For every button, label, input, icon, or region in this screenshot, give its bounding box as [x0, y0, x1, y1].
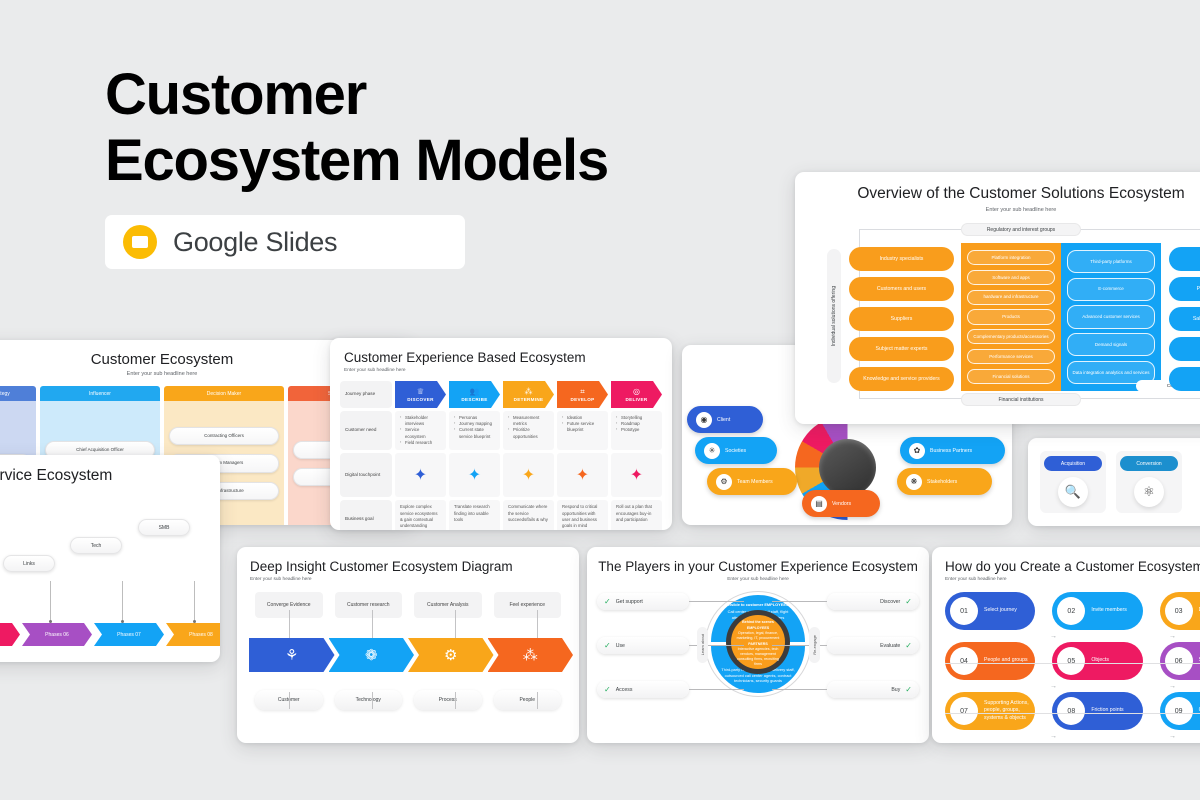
individual-solutions-label: Individual solutions offering	[827, 249, 841, 383]
player-right-discover[interactable]: Discover✓	[827, 593, 919, 610]
overview-right-pill[interactable]: Platform partners	[1169, 277, 1200, 301]
phase-chevron[interactable]: ⁂DETERMINE	[503, 381, 554, 408]
google-slides-badge[interactable]: Google Slides	[105, 215, 465, 269]
players-side-right: Re-engage	[809, 627, 820, 663]
step-number: 01	[950, 597, 978, 625]
player-connector-right	[772, 689, 827, 690]
node-stakeholders[interactable]: ❋Stakeholders	[897, 468, 992, 495]
card-overview-customer-solutions[interactable]: Overview of the Customer Solutions Ecosy…	[795, 172, 1200, 424]
deep-top-label[interactable]: Customer Analysis	[414, 592, 482, 618]
page-title: Customer Ecosystem Models	[105, 62, 725, 193]
column-header: Decision Maker	[164, 386, 284, 401]
step-08[interactable]: 08Friction points	[1052, 692, 1142, 730]
donut-segment-03: 03	[884, 453, 889, 458]
acq-tag-acquisition: Acquisition	[1044, 456, 1102, 471]
node-vendors[interactable]: ▤Vendors	[802, 490, 880, 517]
player-connector-left	[689, 689, 744, 690]
deep-connector-top	[289, 610, 290, 638]
pill-label: Get support	[616, 599, 643, 605]
card-subtitle: Enter your sub headline here	[587, 577, 929, 582]
card-title: Customer Service Ecosystem	[0, 467, 220, 485]
cx-row-business-goal: Business goalExplore complex service eco…	[340, 500, 662, 530]
need-item: Measurement metrics	[508, 415, 549, 427]
player-right-evaluate[interactable]: Evaluate✓	[827, 637, 919, 654]
node-label: Business Partners	[930, 448, 972, 454]
overview-orange-half: Platform integrationSoftware and appshar…	[961, 243, 1061, 391]
how-to-row: 04People and groups05Objects06Se	[945, 642, 1200, 680]
goal-cell: Respond to critical opportunities with u…	[557, 500, 608, 530]
pill-label: Access	[616, 687, 633, 693]
need-cell: Measurement metricsPrioritize opportunit…	[503, 411, 554, 450]
pill-label: Buy	[891, 687, 900, 693]
step-number: 02	[1057, 597, 1085, 625]
overview-orange-item[interactable]: Performance services	[967, 349, 1055, 364]
phase-connector	[122, 581, 123, 623]
team-icon: ⚙	[716, 474, 732, 490]
need-item: Prioritize opportunities	[508, 427, 549, 439]
financial-band: Financial institutions	[961, 393, 1081, 406]
overview-left-column: Industry specialistsCustomers and usersS…	[849, 247, 954, 391]
row-separator	[945, 663, 1200, 664]
pill-label: Use	[616, 643, 625, 649]
need-item: Stakeholder interviews	[400, 415, 441, 427]
phase-chevron[interactable]: ♕DISCOVER	[395, 381, 446, 408]
card-customer-service-ecosystem[interactable]: Customer Service Ecosystem Enter your su…	[0, 455, 220, 662]
player-connector-right	[772, 601, 827, 602]
donut-segment-01: 01	[854, 423, 859, 428]
step-arrow: →	[1169, 683, 1176, 690]
brain-icon[interactable]: ❁	[329, 638, 415, 672]
phase-dot	[49, 620, 52, 623]
overview-right-pill[interactable]: Sales and marketing	[1169, 307, 1200, 331]
need-list: PersonasJourney mappingCurrent state ser…	[454, 415, 495, 440]
cx-matrix: Journey phase♕DISCOVER👥DESCRIBE⁂DETERMIN…	[340, 381, 662, 530]
card-how-to-create-map[interactable]: How do you Create a Customer Ecosystem M…	[932, 547, 1200, 743]
goal-cell: Roll out a plan that encourages buy-in a…	[611, 500, 662, 530]
acq-tile[interactable]: Conversion⚛	[1116, 451, 1182, 513]
overview-blue-item[interactable]: Demand signals	[1067, 333, 1155, 356]
card-title: Deep Insight Customer Ecosystem Diagram	[250, 559, 579, 574]
acquisition-tiles: Acquisition🔍Conversion⚛	[1028, 438, 1200, 526]
need-cell: PersonasJourney mappingCurrent state ser…	[449, 411, 500, 450]
deep-connector-top	[537, 610, 538, 638]
paw-icon[interactable]: ⚘	[249, 638, 335, 672]
player-connector-left	[689, 601, 744, 602]
regulatory-band: Regulatory and interest groups	[961, 223, 1081, 236]
node-label: Stakeholders	[927, 479, 957, 485]
overview-orange-item[interactable]: Software and apps	[967, 270, 1055, 285]
node-team-members[interactable]: ⚙Team Members	[707, 468, 797, 495]
phase-label: DELIVER	[625, 397, 647, 402]
sparkle-icon: ✦	[557, 453, 608, 497]
network-icon[interactable]: ⁂	[488, 638, 574, 672]
deep-connector-top	[455, 610, 456, 638]
step-number: 07	[950, 697, 978, 725]
deep-bottom-label[interactable]: People	[494, 690, 562, 710]
sparkle-icon: ✦	[395, 453, 446, 497]
core-group2-body: Interactive agencies, tech vendors, mana…	[735, 647, 781, 667]
node-societies[interactable]: ✳Societies	[695, 437, 777, 464]
card-subtitle: Enter your sub headline here	[250, 577, 579, 582]
deep-top-labels: Converge EvidenceCustomer researchCustom…	[255, 592, 561, 618]
vertical-label-text: Individual solutions offering	[831, 286, 837, 346]
step-label: Select journey	[984, 607, 1017, 614]
phase-label: DEVELOP	[570, 397, 594, 402]
need-item: Service ecosystem	[400, 427, 441, 439]
deep-top-label[interactable]: Feel experience	[494, 592, 562, 618]
check-icon: ✓	[905, 641, 912, 650]
overview-left-pill[interactable]: Customers and users	[849, 277, 954, 301]
row-label: Customer need	[340, 411, 392, 450]
step-02[interactable]: 02Invite members	[1052, 592, 1142, 630]
blueprint-icon: ⌗	[580, 388, 585, 396]
card-deep-insight[interactable]: Deep Insight Customer Ecosystem Diagram …	[237, 547, 579, 743]
overview-blue-item[interactable]: Advanced customer services	[1067, 305, 1155, 328]
card-title: Overview of the Customer Solutions Ecosy…	[795, 185, 1200, 203]
row-label: Digital touchpoint	[340, 453, 392, 497]
need-cell: IdeationFuture service blueprint	[557, 411, 608, 450]
player-left-get-support[interactable]: ✓Get support	[597, 593, 689, 610]
overview-orange-item[interactable]: hardware and infrastructure	[967, 290, 1055, 305]
donut-segment-02: 02	[873, 434, 878, 439]
overview-right-pill[interactable]: Distributors	[1169, 337, 1200, 361]
how-to-row: 07Supporting Actions, people, groups, sy…	[945, 692, 1200, 730]
overview-orange-item[interactable]: Products	[967, 309, 1055, 324]
target-icon: ◎	[633, 388, 640, 396]
node-label: Team Members	[737, 479, 773, 485]
cx-row-journey-phase: Journey phase♕DISCOVER👥DESCRIBE⁂DETERMIN…	[340, 381, 662, 408]
conversion-icon: ⚛	[1134, 477, 1164, 507]
step-label: Supporting Actions, people, groups, syst…	[984, 700, 1035, 721]
crown-icon: ♕	[417, 388, 424, 396]
phase-label: DETERMINE	[514, 397, 544, 402]
step-number: 05	[1057, 647, 1085, 675]
deep-top-label[interactable]: Customer research	[335, 592, 403, 618]
sparkle-icon: ✦	[503, 453, 554, 497]
network-icon: ⁂	[525, 388, 533, 396]
sparkle-icon: ✦	[611, 453, 662, 497]
overview-left-pill[interactable]: Subject matter experts	[849, 337, 954, 361]
step-label: Invite members	[1091, 607, 1126, 614]
how-to-row: 01Select journey02Invite members03Do	[945, 592, 1200, 630]
check-icon: ✓	[604, 641, 611, 650]
acq-tag-conversion: Conversion	[1120, 456, 1178, 471]
step-09[interactable]: 09Cu	[1160, 692, 1200, 730]
overview-center: Platform integrationSoftware and appshar…	[961, 243, 1161, 391]
card-players[interactable]: The Players in your Customer Experience …	[587, 547, 929, 743]
overview-blue-item[interactable]: Third-party platforms	[1067, 250, 1155, 273]
stakeholder-icon: ❋	[906, 474, 922, 490]
check-icon: ✓	[905, 597, 912, 606]
need-list: Measurement metricsPrioritize opportunit…	[508, 415, 549, 440]
overview-left-pill[interactable]: Knowledge and service providers	[849, 367, 954, 391]
phase-dot	[121, 620, 124, 623]
goal-cell: Explore complex service ecosystems & gai…	[395, 500, 446, 530]
overview-right-pill[interactable]: Data providers	[1169, 367, 1200, 391]
deep-connector-bottom	[537, 692, 538, 709]
partners-icon: ✿	[909, 443, 925, 459]
deep-bottom-labels: CustomerTechnologyProcessPeople	[255, 690, 561, 710]
step-04[interactable]: 04People and groups	[945, 642, 1035, 680]
step-number: 09	[1165, 697, 1193, 725]
overview-orange-item[interactable]: Complementary products/accessories	[967, 329, 1055, 344]
card-subtitle: Enter your sub headline here	[795, 207, 1200, 213]
phase-phases-06[interactable]: Phases 06	[22, 623, 92, 646]
step-arrow: →	[1169, 733, 1176, 740]
column-header: Final Authority/ Cloud Strategy	[0, 386, 36, 401]
deep-bottom-label[interactable]: Technology	[335, 690, 403, 710]
need-item: Field research	[400, 440, 441, 446]
phase-label: DISCOVER	[407, 397, 433, 402]
phase-connector	[50, 581, 51, 623]
overview-right-pill[interactable]: IT partners	[1169, 247, 1200, 271]
step-arrow: →	[1050, 733, 1057, 740]
players-side-left: Learn about	[697, 627, 708, 663]
page-title-line2: Ecosystem Models	[105, 128, 608, 193]
callout-smb[interactable]: SMB	[138, 519, 190, 536]
pill-label: Discover	[880, 599, 900, 605]
phase-dot	[193, 620, 196, 623]
need-item: Current state service blueprint	[454, 427, 495, 439]
card-subtitle: Enter your sub headline here	[0, 488, 220, 494]
step-03[interactable]: 03Do	[1160, 592, 1200, 630]
side-left-label: Learn about	[700, 634, 705, 655]
overview-right-column: IT partnersPlatform partnersSales and ma…	[1169, 247, 1200, 391]
step-number: 04	[950, 647, 978, 675]
deep-chevrons: ⚘❁⚙⁂	[249, 638, 567, 672]
vendor-icon: ▤	[811, 496, 827, 512]
step-number: 03	[1165, 597, 1193, 625]
node-label: Client	[717, 417, 730, 423]
step-number: 06	[1165, 647, 1193, 675]
players-core: Behind the scenesEMPLOYEESOperation, leg…	[731, 615, 785, 669]
card-title: The Players in your Customer Experience …	[587, 559, 929, 574]
phase-label: DESCRIBE	[461, 397, 487, 402]
card-title: Customer Experience Based Ecosystem	[344, 350, 672, 365]
search-target-icon: 🔍	[1058, 477, 1088, 507]
need-list: IdeationFuture service blueprint	[562, 415, 603, 434]
google-slides-icon	[123, 225, 157, 259]
deep-connector-bottom	[372, 692, 373, 709]
phase-chevron[interactable]: ⌗DEVELOP	[557, 381, 608, 408]
need-list: Stakeholder interviewsService ecosystemF…	[400, 415, 441, 446]
need-cell: StorytellingRoadmapPrototype	[611, 411, 662, 450]
overview-left-pill[interactable]: Industry specialists	[849, 247, 954, 271]
core-group1-body: Operation, legal, finance, marketing, IT…	[735, 631, 781, 641]
acq-tile[interactable]: Acquisition🔍	[1040, 451, 1106, 513]
goal-cell: Translate research finding into usable t…	[449, 500, 500, 530]
need-list: StorytellingRoadmapPrototype	[616, 415, 657, 434]
card-subtitle: Enter your sub headline here	[344, 368, 672, 373]
need-item: Prototype	[616, 427, 657, 433]
step-07[interactable]: 07Supporting Actions, people, groups, sy…	[945, 692, 1035, 730]
how-to-steps: 01Select journey02Invite members03Do04Pe…	[945, 592, 1200, 730]
node-client[interactable]: ◉Client	[687, 406, 763, 433]
step-arrow: →	[1169, 633, 1176, 640]
cx-row-digital-touchpoint: Digital touchpoint✦✦✦✦✦	[340, 453, 662, 497]
row-separator	[945, 713, 1200, 714]
client-icon: ◉	[696, 412, 712, 428]
poster-stage: Customer Ecosystem Models Google Slides …	[0, 0, 1200, 800]
phase-chevron[interactable]: 👥DESCRIBE	[449, 381, 500, 408]
card-cx-based-ecosystem[interactable]: Customer Experience Based Ecosystem Ente…	[330, 338, 672, 530]
card-title: How do you Create a Customer Ecosystem M…	[945, 559, 1200, 574]
goal-cell: Communicate where the service succeeds/f…	[503, 500, 554, 530]
step-arrow: →	[1050, 683, 1057, 690]
deep-bottom-label[interactable]: Process	[414, 690, 482, 710]
overview-left-pill[interactable]: Suppliers	[849, 307, 954, 331]
callout-links[interactable]: Links	[3, 555, 55, 572]
step-05[interactable]: 05Objects	[1052, 642, 1142, 680]
phase-phases-08[interactable]: Phases 08	[166, 623, 220, 646]
step-06[interactable]: 06Se	[1160, 642, 1200, 680]
node-business-partners[interactable]: ✿Business Partners	[900, 437, 1005, 464]
donut-hole	[819, 439, 876, 496]
badge-label: Google Slides	[173, 227, 337, 258]
node-label: Vendors	[832, 501, 851, 507]
need-cell: Stakeholder interviewsService ecosystemF…	[395, 411, 446, 450]
player-left-use[interactable]: ✓Use	[597, 637, 689, 654]
overview-blue-half: Third-party platformsE-commerceAdvanced …	[1061, 243, 1161, 391]
deep-connector-bottom	[455, 692, 456, 709]
check-icon: ✓	[604, 597, 611, 606]
step-number: 08	[1057, 697, 1085, 725]
users-icon: 👥	[470, 388, 480, 396]
row-label: Business goal	[340, 500, 392, 530]
page-title-line1: Customer	[105, 62, 366, 127]
player-right-buy[interactable]: Buy✓	[827, 681, 919, 698]
deep-connector-top	[372, 610, 373, 638]
step-01[interactable]: 01Select journey	[945, 592, 1035, 630]
pill-label: Evaluate	[880, 643, 900, 649]
overview-blue-item[interactable]: E-commerce	[1067, 278, 1155, 301]
side-right-label: Re-engage	[812, 635, 817, 655]
overview-diagram: Regulatory and interest groups Financial…	[809, 221, 1200, 406]
ecosystem-role-pill[interactable]: Contracting Officers	[169, 427, 279, 445]
overview-orange-item[interactable]: Financial solutions	[967, 369, 1055, 384]
need-item: Future service blueprint	[562, 421, 603, 433]
gears-icon[interactable]: ⚙	[408, 638, 494, 672]
card-subtitle: Enter your sub headline here	[945, 577, 1200, 582]
column-header: Influencer	[40, 386, 160, 401]
deep-connector-bottom	[289, 692, 290, 709]
card-acquisition-conversion[interactable]: Acquisition🔍Conversion⚛	[1028, 438, 1200, 526]
phase-phases-07[interactable]: Phases 07	[94, 623, 164, 646]
overview-orange-item[interactable]: Platform integration	[967, 250, 1055, 265]
player-left-access[interactable]: ✓Access	[597, 681, 689, 698]
arc-top-title: Visible to customer EMPLOYEES	[721, 602, 795, 607]
callout-tech[interactable]: Tech	[70, 537, 122, 554]
node-label: Societies	[725, 448, 746, 454]
society-icon: ✳	[704, 443, 720, 459]
check-icon: ✓	[604, 685, 611, 694]
cx-row-customer-need: Customer needStakeholder interviewsServi…	[340, 411, 662, 450]
phase-connector	[194, 581, 195, 623]
core-title: Behind the scenes	[735, 620, 781, 625]
donut-segment-04: 04	[884, 475, 889, 480]
sparkle-icon: ✦	[449, 453, 500, 497]
step-arrow: →	[1050, 633, 1057, 640]
row-label: Journey phase	[340, 381, 392, 408]
hero-block: Customer Ecosystem Models Google Slides	[105, 62, 725, 269]
phase-chevron[interactable]: ◎DELIVER	[611, 381, 662, 408]
check-icon: ✓	[905, 685, 912, 694]
phase-phases-05[interactable]: Phases 05	[0, 623, 20, 646]
